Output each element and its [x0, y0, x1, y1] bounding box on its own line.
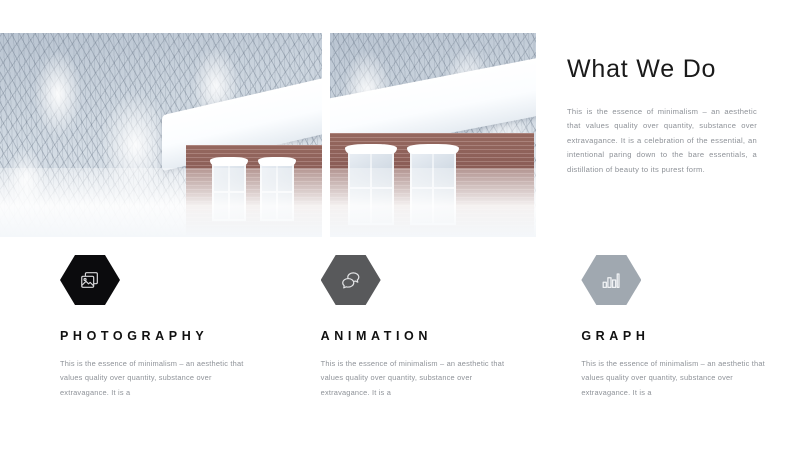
hexagon-badge-photography	[60, 255, 120, 305]
window-snowcap	[345, 144, 397, 154]
hexagon-badge-graph	[581, 255, 641, 305]
feature-title: ANIMATION	[321, 329, 540, 343]
window-snowcap	[407, 144, 459, 154]
intro-paragraph: This is the essence of minimalism – an a…	[567, 105, 757, 178]
hero-photo-left	[0, 33, 322, 237]
window-snowcap	[210, 157, 248, 166]
feature-card-list: PHOTOGRAPHY This is the essence of minim…	[0, 255, 800, 400]
photos-icon	[79, 269, 101, 291]
hero-image-band	[0, 33, 536, 237]
feature-title: PHOTOGRAPHY	[60, 329, 279, 343]
hexagon-badge-animation	[321, 255, 381, 305]
feature-description: This is the essence of minimalism – an a…	[321, 357, 517, 400]
feature-description: This is the essence of minimalism – an a…	[581, 357, 777, 400]
photo-gutter	[322, 33, 330, 237]
feature-title: GRAPH	[581, 329, 800, 343]
bar-chart-icon	[600, 269, 622, 291]
feature-description: This is the essence of minimalism – an a…	[60, 357, 256, 400]
window-snowcap	[258, 157, 296, 166]
feature-card-animation[interactable]: ANIMATION This is the essence of minimal…	[321, 255, 540, 400]
intro-block: What We Do This is the essence of minima…	[567, 55, 757, 178]
feature-card-graph[interactable]: GRAPH This is the essence of minimalism …	[581, 255, 800, 400]
snow-foreground	[330, 168, 536, 237]
speech-bubbles-icon	[340, 269, 362, 291]
snow-foreground	[0, 168, 322, 237]
feature-card-photography[interactable]: PHOTOGRAPHY This is the essence of minim…	[60, 255, 279, 400]
hero-photo-right	[330, 33, 536, 237]
page-title: What We Do	[567, 55, 757, 84]
